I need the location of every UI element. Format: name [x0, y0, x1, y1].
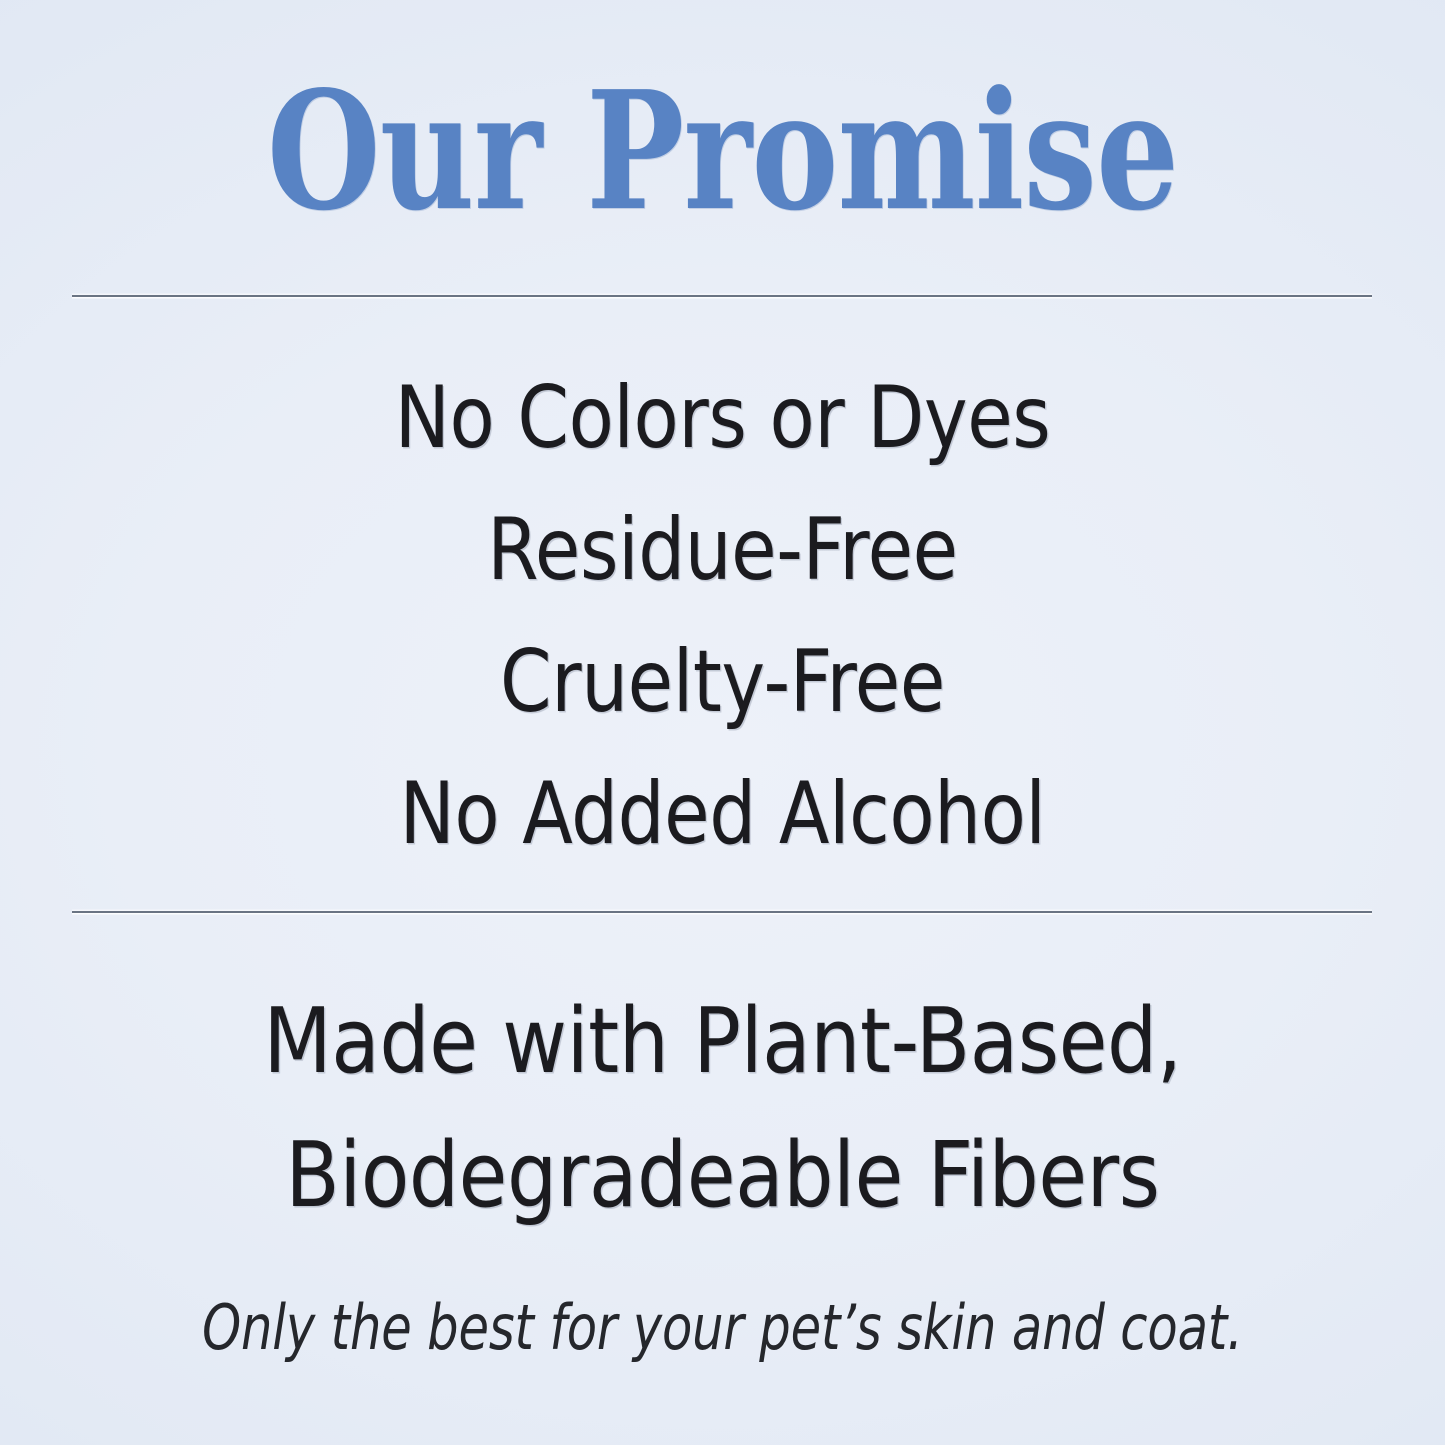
page-title: Our Promise [267, 66, 1178, 237]
claims-list: No Colors or Dyes Residue-Free Cruelty-F… [0, 352, 1445, 880]
claim-item: Cruelty-Free [101, 616, 1344, 748]
materials-line: Made with Plant-Based, [87, 975, 1359, 1109]
our-promise-card: Our Promise No Colors or Dyes Residue-Fr… [0, 0, 1445, 1445]
page-title-container: Our Promise [0, 66, 1445, 237]
claim-item: No Added Alcohol [101, 748, 1344, 880]
tagline: Only the best for your pet’s skin and co… [202, 1292, 1243, 1363]
materials-line: Biodegradeable Fibers [87, 1109, 1359, 1243]
materials-statement: Made with Plant-Based, Biodegradeable Fi… [0, 975, 1445, 1243]
claim-item: No Colors or Dyes [101, 352, 1344, 484]
divider-top [72, 295, 1372, 297]
divider-bottom [72, 911, 1372, 913]
claim-item: Residue-Free [101, 484, 1344, 616]
tagline-container: Only the best for your pet’s skin and co… [0, 1292, 1445, 1363]
